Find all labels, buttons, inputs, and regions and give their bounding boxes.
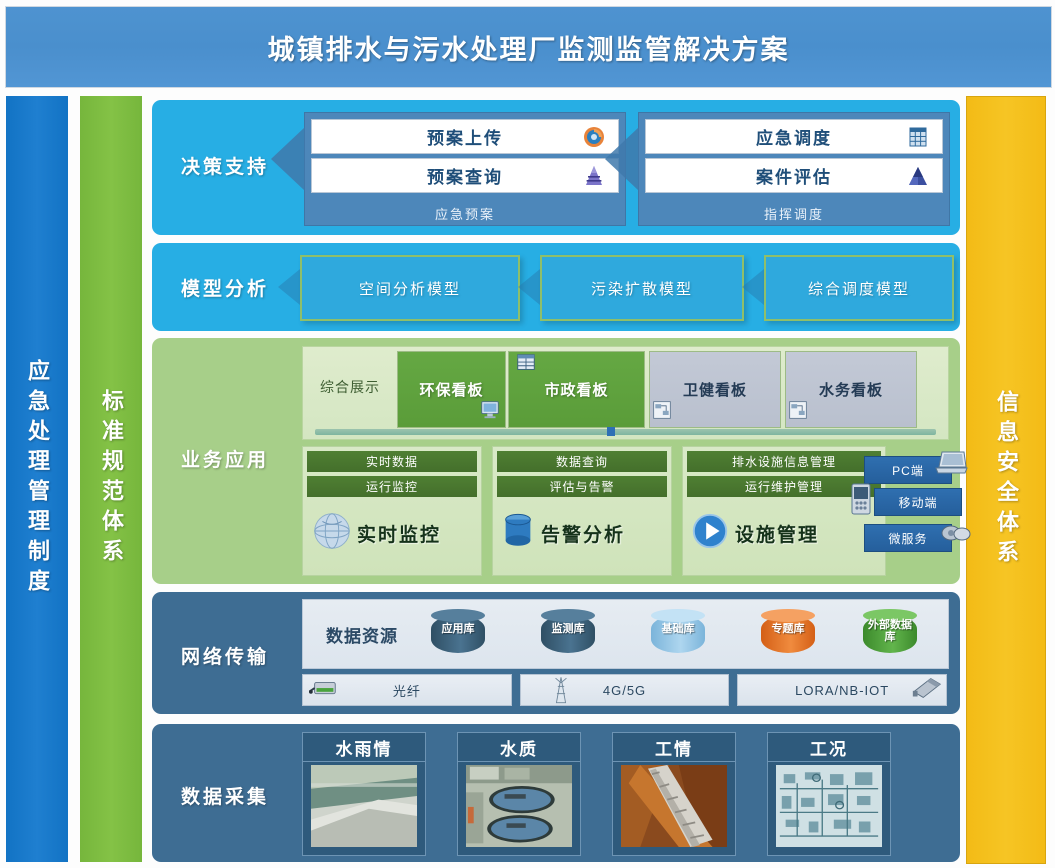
play-circle-icon (689, 510, 731, 557)
business-application-panel: 业务应用 综合展示 环保看板 市政看板 (152, 338, 960, 584)
board-municipal[interactable]: 市政看板 (508, 351, 645, 428)
biz-main-alarm-analysis[interactable]: 告警分析 (499, 497, 667, 569)
window-icon (515, 352, 537, 379)
comprehensive-display-strip: 综合展示 环保看板 市政看板 (302, 346, 949, 440)
case-assessment-row[interactable]: 案件评估 (645, 158, 943, 193)
acquisition-card-water-quality[interactable]: 水质 (457, 732, 581, 856)
client-button-label: PC端 (892, 462, 924, 479)
page-title: 城镇排水与污水处理厂监测监管解决方案 (268, 28, 790, 67)
network-link-label: 4G/5G (603, 683, 646, 698)
network-link-4g5g[interactable]: 4G/5G (520, 674, 730, 706)
mobile-phone-icon (850, 483, 872, 520)
acquisition-card-header: 水雨情 (303, 733, 425, 762)
pyramid-dark-icon (906, 164, 930, 188)
board-health[interactable]: 卫健看板 (649, 351, 781, 428)
database-cylinder-thematic[interactable]: 专题库 (761, 609, 815, 659)
arrow-tail-icon (271, 127, 305, 191)
model-analysis-panel: 模型分析 空间分析模型 污染扩散模型 综合调度模型 (152, 243, 960, 331)
model-card-label: 综合调度模型 (808, 278, 910, 299)
cycle-refresh-icon (582, 125, 606, 149)
acquisition-card-header: 水质 (458, 733, 580, 762)
acquisition-card-operating-condition[interactable]: 工况 (767, 732, 891, 856)
showcase-scrollbar[interactable] (315, 429, 936, 435)
biz-bar-label: 实时数据 (366, 453, 418, 470)
biz-main-label: 设施管理 (735, 520, 819, 547)
acquisition-card-label: 工情 (655, 735, 693, 760)
data-acquisition-panel: 数据采集 水雨情 水质 (152, 724, 960, 862)
showcase-scrollbar-thumb[interactable] (607, 427, 615, 436)
sedimentation-tanks-photo (466, 765, 572, 847)
acquisition-card-project-status[interactable]: 工情 (612, 732, 736, 856)
biz-bar-label: 运行监控 (366, 478, 418, 495)
sidebar-emergency-management-system: 应急处理管理制度 (6, 96, 68, 862)
client-button-microservice[interactable]: 微服务 (864, 524, 952, 552)
scada-schematic-photo (776, 765, 882, 847)
database-cylinder-basic[interactable]: 基础库 (651, 609, 705, 659)
database-icon (499, 510, 537, 557)
monitor-icon (479, 398, 501, 425)
emergency-plan-footer: 应急预案 (311, 203, 619, 223)
plan-query-row[interactable]: 预案查询 (311, 158, 619, 193)
node-link-icon (788, 400, 808, 425)
arrow-tail-icon (278, 269, 300, 305)
database-label: 专题库 (761, 623, 815, 635)
fiber-cable-icon (309, 678, 339, 705)
sidebar-information-security-label: 信息安全体系 (990, 390, 1022, 570)
database-cylinder-external[interactable]: 外部数据库 (863, 609, 917, 659)
node-link-icon (652, 400, 672, 425)
biz-main-realtime-monitoring[interactable]: 实时监控 (309, 497, 477, 569)
network-transmission-panel: 网络传输 数据资源 应用库 监测库 基础库 专题库 (152, 592, 960, 714)
arrow-tail-icon (605, 127, 639, 191)
command-dispatch-footer: 指挥调度 (645, 203, 943, 223)
client-button-mobile[interactable]: 移动端 (874, 488, 962, 516)
acquisition-card-label: 水雨情 (336, 735, 393, 760)
database-cylinder-monitoring[interactable]: 监测库 (541, 609, 595, 659)
page-title-bar: 城镇排水与污水处理厂监测监管解决方案 (5, 6, 1052, 88)
board-label: 市政看板 (544, 379, 608, 400)
plan-upload-label: 预案上传 (427, 124, 503, 149)
network-link-fiber[interactable]: 光纤 (302, 674, 512, 706)
acquisition-card-header: 工况 (768, 733, 890, 762)
acquisition-card-label: 工况 (810, 735, 848, 760)
board-label: 环保看板 (419, 379, 483, 400)
pyramid-icon (582, 164, 606, 188)
model-card-label: 污染扩散模型 (591, 278, 693, 299)
table-grid-icon (906, 125, 930, 149)
database-label: 基础库 (651, 623, 705, 635)
biz-column-realtime-monitoring: 实时数据 运行监控 实时监控 (302, 446, 482, 576)
sidebar-standard-specification-system: 标准规范体系 (80, 96, 142, 862)
board-water-affairs[interactable]: 水务看板 (785, 351, 917, 428)
comprehensive-display-label: 综合展示 (311, 377, 389, 397)
globe-icon (309, 508, 355, 559)
data-acquisition-label: 数据采集 (160, 772, 290, 818)
arrow-tail-icon (518, 269, 540, 305)
network-link-label: LORA/NB-IOT (795, 683, 889, 698)
network-link-label: 光纤 (393, 681, 421, 700)
gears-icon (940, 521, 974, 550)
biz-bar-drainage-facility-info[interactable]: 排水设施信息管理 (687, 451, 881, 472)
plan-upload-row[interactable]: 预案上传 (311, 119, 619, 154)
biz-bar-label: 数据查询 (556, 453, 608, 470)
data-resources-strip: 数据资源 应用库 监测库 基础库 专题库 (302, 599, 949, 669)
data-resources-label: 数据资源 (313, 622, 411, 647)
biz-bar-label: 评估与告警 (549, 478, 614, 495)
database-cylinder-application[interactable]: 应用库 (431, 609, 485, 659)
business-application-label: 业务应用 (160, 433, 290, 483)
buried-pipeline-photo (621, 765, 727, 847)
biz-bar-realtime-data[interactable]: 实时数据 (307, 451, 477, 472)
biz-main-label: 告警分析 (541, 520, 625, 547)
sidebar-standard-specification-label: 标准规范体系 (95, 389, 127, 569)
network-links-row: 光纤 4G/5G (302, 674, 947, 706)
case-assessment-label: 案件评估 (756, 163, 832, 188)
command-dispatch-group: 应急调度 案件评估 (638, 112, 950, 226)
model-card-spatial-analysis[interactable]: 空间分析模型 (300, 255, 520, 321)
client-button-label: 微服务 (888, 530, 927, 547)
antenna-tower-icon (551, 675, 571, 710)
acquisition-card-label: 水质 (500, 735, 538, 760)
sidebar-information-security-system: 信息安全体系 (966, 96, 1046, 864)
network-transmission-label: 网络传输 (160, 632, 290, 678)
board-label: 卫健看板 (683, 379, 747, 400)
acquisition-card-header: 工情 (613, 733, 735, 762)
model-card-integrated-dispatch[interactable]: 综合调度模型 (764, 255, 954, 321)
emergency-dispatch-row[interactable]: 应急调度 (645, 119, 943, 154)
database-label: 监测库 (541, 623, 595, 635)
biz-bar-operation-monitoring[interactable]: 运行监控 (307, 476, 477, 497)
emergency-dispatch-label: 应急调度 (756, 124, 832, 149)
network-link-lora-nbiot[interactable]: LORA/NB-IOT (737, 674, 947, 706)
model-card-pollution-diffusion[interactable]: 污染扩散模型 (540, 255, 744, 321)
canal-embankment-photo (311, 765, 417, 847)
arrow-tail-icon (742, 269, 764, 305)
biz-column-alarm-analysis: 数据查询 评估与告警 告警分析 (492, 446, 672, 576)
database-label: 外部数据库 (863, 619, 917, 643)
biz-main-label: 实时监控 (357, 520, 441, 547)
emergency-plan-group: 预案上传 预案查询 (304, 112, 626, 226)
biz-bar-label: 运行维护管理 (745, 478, 823, 495)
laptop-icon (934, 450, 968, 481)
biz-bar-assessment-alarm[interactable]: 评估与告警 (497, 476, 667, 497)
acquisition-card-water-rain[interactable]: 水雨情 (302, 732, 426, 856)
biz-bar-label: 排水设施信息管理 (732, 453, 836, 470)
client-button-label: 移动端 (898, 494, 937, 511)
model-analysis-label: 模型分析 (160, 265, 290, 309)
biz-bar-data-query[interactable]: 数据查询 (497, 451, 667, 472)
sidebar-emergency-management-label: 应急处理管理制度 (21, 359, 53, 599)
board-environmental-protection[interactable]: 环保看板 (397, 351, 506, 428)
database-label: 应用库 (431, 623, 485, 635)
decision-support-panel: 决策支持 预案上传 预案查询 (152, 100, 960, 235)
model-card-label: 空间分析模型 (359, 278, 461, 299)
plan-query-label: 预案查询 (427, 163, 503, 188)
board-label: 水务看板 (819, 379, 883, 400)
rf-module-icon (910, 676, 944, 705)
